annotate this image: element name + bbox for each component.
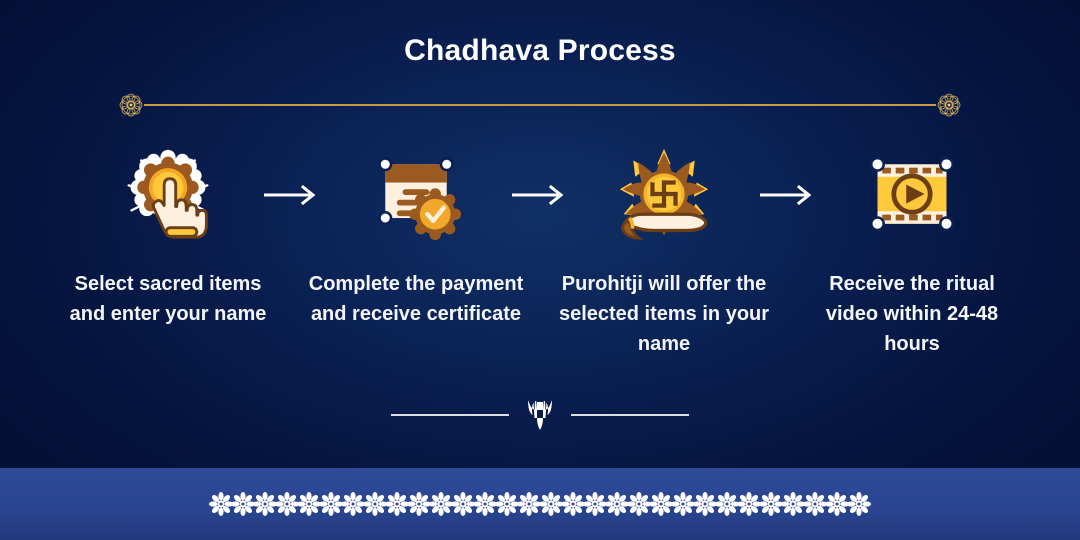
hand-offering-swastika-flower-icon [614,147,714,243]
bottom-ornament-band [0,468,1080,540]
divider-line-left [391,414,509,416]
trishul-divider [0,398,1080,432]
step-4-caption: Receive the ritual video within 24-48 ho… [805,269,1020,359]
hand-tap-sun-icon [120,147,216,243]
flower-icon [385,492,409,516]
flower-icon [363,492,387,516]
mandala-icon [116,90,146,120]
process-steps: Select sacred items and enter your name [40,145,1040,359]
flower-icon [715,492,739,516]
flower-icon [693,492,717,516]
flower-icon [209,492,233,516]
trishul-icon [525,398,555,432]
video-film-play-icon [864,149,960,241]
flower-icon [495,492,519,516]
flower-icon [561,492,585,516]
chadhava-process-infographic: Chadhava Process [0,0,1080,540]
flower-icon [297,492,321,516]
flower-icon [407,492,431,516]
step-4-icon-container [862,145,962,245]
flower-icon [583,492,607,516]
flower-icon [803,492,827,516]
flower-icon [231,492,255,516]
flower-icon [781,492,805,516]
step-2-caption: Complete the payment and receive certifi… [309,269,524,329]
mandala-icon [934,90,964,120]
certificate-seal-icon [368,147,464,243]
flower-icon [825,492,849,516]
flower-icon [451,492,475,516]
process-step-3[interactable]: Purohitji will offer the selected items … [549,145,779,359]
flower-icon [605,492,629,516]
flower-icon [275,492,299,516]
flower-icon [847,492,871,516]
flower-icon [319,492,343,516]
process-step-1[interactable]: Select sacred items and enter your name [53,145,283,329]
step-1-caption: Select sacred items and enter your name [61,269,276,329]
flower-icon [649,492,673,516]
flower-icon [759,492,783,516]
flower-icon [539,492,563,516]
page-title: Chadhava Process [0,34,1080,68]
step-3-caption: Purohitji will offer the selected items … [557,269,772,359]
process-step-2[interactable]: Complete the payment and receive certifi… [301,145,531,329]
flower-icon [517,492,541,516]
flower-icon [253,492,277,516]
divider-line-right [571,414,689,416]
flower-icon [627,492,651,516]
flower-icon [671,492,695,516]
flower-row [210,492,870,516]
flower-icon [737,492,761,516]
step-3-icon-container [614,145,714,245]
step-2-icon-container [366,145,466,245]
step-1-icon-container [118,145,218,245]
top-ornamental-rule [130,104,950,106]
flower-icon [341,492,365,516]
flower-icon [473,492,497,516]
process-step-4[interactable]: Receive the ritual video within 24-48 ho… [797,145,1027,359]
flower-icon [429,492,453,516]
rule-line [144,104,936,106]
